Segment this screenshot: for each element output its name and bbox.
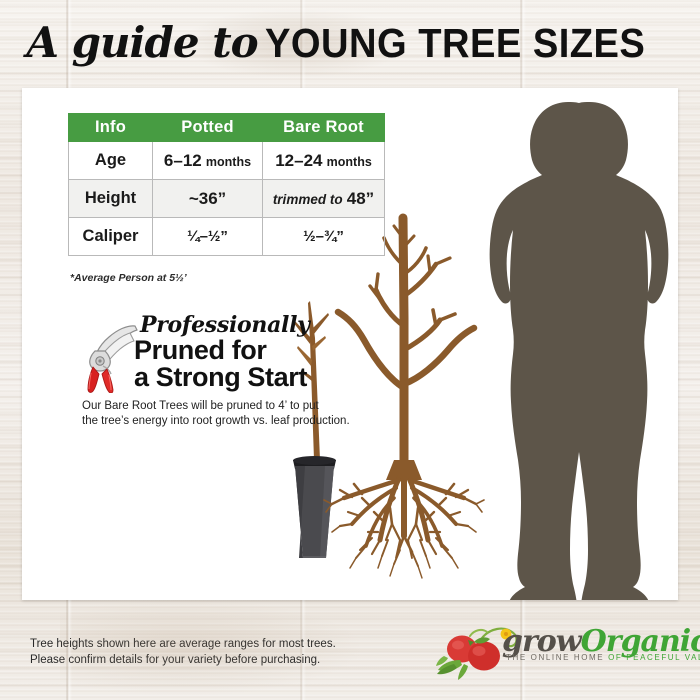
pruning-headline: Pruned for a Strong Start (134, 337, 307, 391)
table-header-row: Info Potted Bare Root (69, 114, 385, 142)
title-caps-part: YOUNG TREE SIZES (265, 20, 645, 67)
cell-age-bareroot: 12–24 months (263, 142, 385, 180)
grow-organic-logo[interactable]: growOrganic.COM THE ONLINE HOME OF PEACE… (430, 620, 680, 682)
header-info: Info (69, 114, 153, 142)
header-potted: Potted (153, 114, 263, 142)
pruning-body-text: Our Bare Root Trees will be pruned to 4’… (82, 399, 350, 429)
pruning-headline-line2: a Strong Start (134, 364, 307, 391)
infographic-page: A guide toYOUNG TREE SIZES (0, 0, 700, 700)
cell-age-potted-value: 6–12 (164, 151, 202, 170)
cell-caliper-potted-value: ¼–½” (187, 228, 228, 245)
cell-age-bareroot-value: 12–24 (275, 151, 322, 170)
row-label-caliper: Caliper (69, 218, 153, 256)
content-card: Info Potted Bare Root Age 6–12 months 12… (22, 88, 678, 600)
average-person-note: *Average Person at 5½’ (70, 272, 187, 284)
cell-age-potted-unit: months (206, 155, 251, 169)
cell-caliper-bareroot: ½–¾” (263, 218, 385, 256)
disclaimer-line1: Tree heights shown here are average rang… (30, 636, 336, 652)
root-system (324, 472, 484, 578)
cell-age-potted: 6–12 months (153, 142, 263, 180)
page-title: A guide toYOUNG TREE SIZES (0, 18, 700, 67)
disclaimer-line2: Please confirm details for your variety … (30, 652, 336, 668)
cell-age-bareroot-unit: months (327, 155, 372, 169)
cell-height-bareroot-value: 48” (347, 189, 374, 208)
cell-height-bareroot: trimmed to 48” (263, 180, 385, 218)
header-bare-root: Bare Root (263, 114, 385, 142)
spec-table: Info Potted Bare Root Age 6–12 months 12… (68, 113, 385, 256)
cell-caliper-potted: ¼–½” (153, 218, 263, 256)
disclaimer-text: Tree heights shown here are average rang… (30, 636, 336, 668)
pruning-body-line2: the tree’s energy into root growth vs. l… (82, 414, 350, 429)
table-row-caliper: Caliper ¼–½” ½–¾” (69, 218, 385, 256)
row-label-height: Height (69, 180, 153, 218)
pruning-body-line1: Our Bare Root Trees will be pruned to 4’… (82, 399, 350, 414)
cell-height-bareroot-prefix: trimmed to (273, 192, 343, 207)
pruning-headline-line1: Pruned for (134, 337, 307, 364)
logo-tagline-part1: THE ONLINE HOME (506, 653, 608, 662)
cell-height-potted: ~36” (153, 180, 263, 218)
title-script-part: A guide to (26, 18, 257, 67)
table-row-age: Age 6–12 months 12–24 months (69, 142, 385, 180)
pruning-shears-icon (83, 321, 141, 393)
logo-tagline-part2: OF PEACEFUL VALLEY (608, 653, 700, 662)
person-silhouette-illustration (490, 102, 669, 600)
row-label-age: Age (69, 142, 153, 180)
logo-tagline: THE ONLINE HOME OF PEACEFUL VALLEY (506, 653, 700, 662)
cell-caliper-bareroot-value: ½–¾” (303, 228, 344, 245)
cell-height-potted-value: ~36” (189, 189, 226, 208)
table-row-height: Height ~36” trimmed to 48” (69, 180, 385, 218)
